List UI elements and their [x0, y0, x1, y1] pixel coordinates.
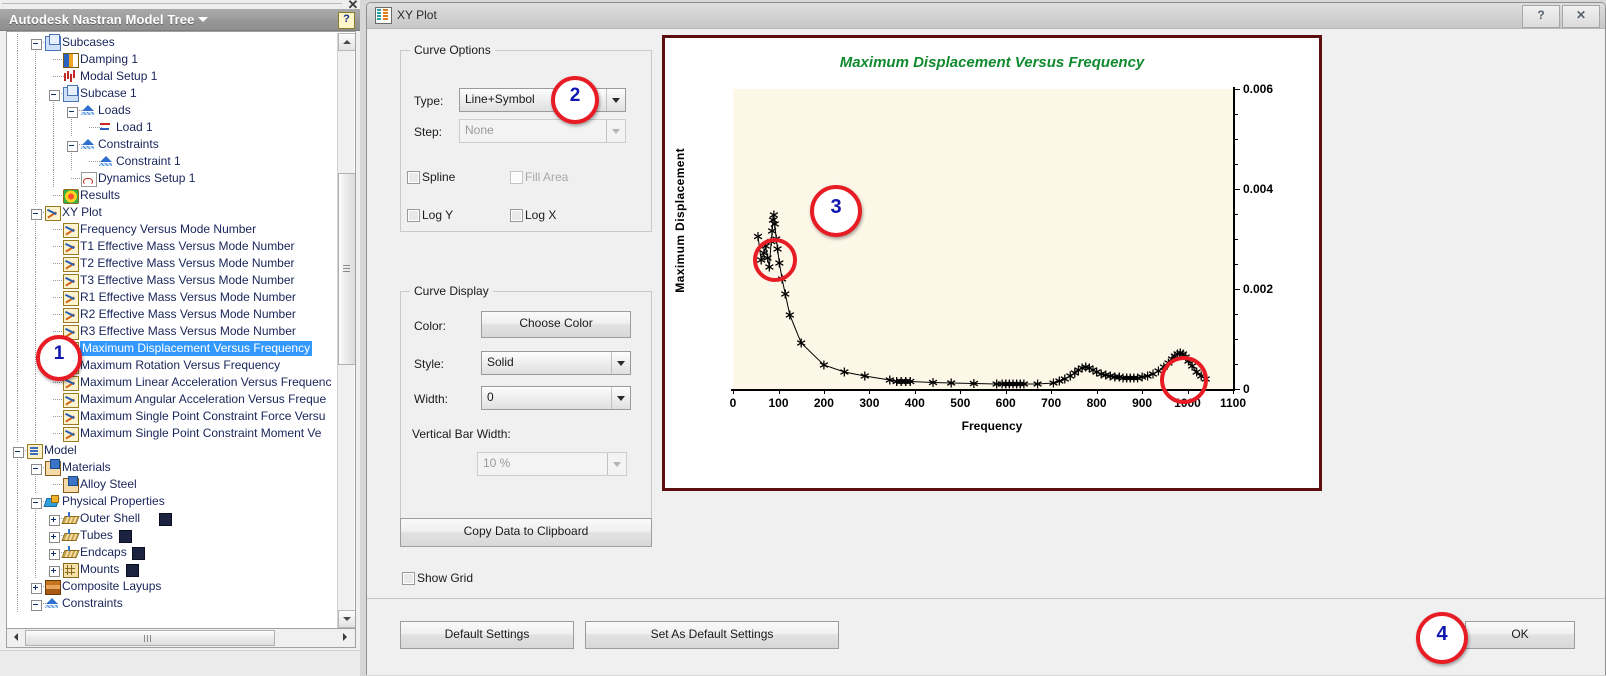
tree-item-label: R2 Effective Mass Versus Mode Number [80, 307, 296, 322]
tree-item-label: Maximum Rotation Versus Frequency [80, 358, 280, 373]
tree-item[interactable]: T2 Effective Mass Versus Mode Number [7, 255, 337, 272]
tree-guide [17, 187, 18, 204]
tree-item-label: Constraints [98, 137, 159, 152]
tree-item[interactable]: Damping 1 [7, 51, 337, 68]
y-tick-label: 0 [1243, 382, 1250, 396]
tree-item[interactable]: Model [7, 442, 337, 459]
annotation-badge-4: 4 [1416, 612, 1468, 664]
width-value: 0 [487, 390, 494, 404]
tree-guide [17, 578, 18, 595]
tree-item[interactable]: Frequency Versus Mode Number [7, 221, 337, 238]
y-minor-tick [1235, 239, 1238, 240]
style-value: Solid [487, 355, 514, 369]
ok-button[interactable]: OK [1465, 621, 1575, 649]
tree-item[interactable]: Mounts [7, 561, 337, 578]
physical-properties-icon [45, 495, 59, 508]
tree-guide [17, 476, 18, 493]
model-tree-caption-bar: Autodesk Nastran Model Tree ? [0, 9, 360, 31]
tree-guide [17, 323, 18, 340]
tree-item-label: Mounts [80, 562, 119, 577]
chevron-down-icon [607, 453, 626, 475]
tree-expander-minus-icon[interactable] [49, 90, 60, 101]
shell-icon [63, 529, 77, 542]
xy-icon [45, 206, 61, 221]
tree-item[interactable]: Outer Shell [7, 510, 337, 527]
xy-icon [63, 240, 79, 255]
tree-item[interactable]: Load 1 [7, 119, 337, 136]
x-tick-label: 700 [1041, 396, 1061, 410]
x-tick-label: 0 [730, 396, 737, 410]
tree-guide [17, 34, 18, 51]
chart-panel: Maximum Displacement Versus Frequency Ma… [662, 35, 1322, 491]
x-tick [733, 389, 734, 394]
chevron-down-icon[interactable] [611, 387, 630, 409]
tree-item[interactable]: Loads [7, 102, 337, 119]
pages-icon [45, 36, 61, 51]
tree-item-label: Constraint 1 [116, 154, 181, 169]
tree-guide [35, 272, 36, 289]
tree-guide [35, 425, 36, 442]
tree-item-label: Maximum Angular Acceleration Versus Freq… [80, 392, 326, 407]
tree-expander-minus-icon[interactable] [67, 107, 78, 118]
xy-icon [63, 274, 79, 289]
tree-guide [35, 153, 36, 170]
tree-guide [17, 170, 18, 187]
tree-item-label: Materials [62, 460, 111, 475]
xy-icon [63, 308, 79, 323]
step-label: Step: [414, 125, 442, 139]
tree-guide [35, 85, 36, 102]
highlight-ring-low-frequency-peak [753, 238, 797, 282]
tree-item-label: Model [44, 443, 77, 458]
tree-item-label: Damping 1 [80, 52, 138, 67]
x-tick [824, 389, 825, 394]
tree-guide [17, 136, 18, 153]
type-value: Line+Symbol [465, 92, 535, 106]
tree-guide [71, 153, 72, 170]
panel-footer [0, 650, 360, 676]
tree-guide [17, 255, 18, 272]
tree-item[interactable]: T1 Effective Mass Versus Mode Number [7, 238, 337, 255]
scroll-up-icon[interactable] [338, 33, 356, 51]
y-minor-tick [1235, 289, 1238, 290]
tree-guide [17, 238, 18, 255]
tree-guide [35, 187, 36, 204]
y-minor-tick [1235, 114, 1238, 115]
style-label: Style: [414, 357, 444, 371]
tree-item-label: T1 Effective Mass Versus Mode Number [80, 239, 295, 254]
vertical-scroll-thumb[interactable] [338, 173, 356, 365]
tree-item-label: T2 Effective Mass Versus Mode Number [80, 256, 295, 271]
y-minor-tick [1235, 89, 1238, 90]
dialog-title-bar: XY Plot ? ✕ [367, 3, 1605, 29]
width-combobox[interactable]: 0 [481, 386, 631, 410]
y-minor-tick [1235, 339, 1238, 340]
tree-guide [17, 544, 18, 561]
tree-item-label: Alloy Steel [80, 477, 137, 492]
tree-expander-minus-icon[interactable] [31, 209, 42, 220]
tree-item-label: T3 Effective Mass Versus Mode Number [80, 273, 295, 288]
tree-item[interactable]: Subcase 1 [7, 85, 337, 102]
x-tick-label: 100 [768, 396, 788, 410]
composite-icon [45, 580, 61, 595]
tree-guide [35, 238, 36, 255]
tree-guide [35, 391, 36, 408]
xy-icon [63, 223, 79, 238]
tree-item[interactable]: Subcases [7, 34, 337, 51]
curve-options-title: Curve Options [410, 43, 495, 57]
tree-expander-minus-icon[interactable] [13, 447, 24, 458]
model-icon [27, 444, 43, 459]
checkbox-box [510, 171, 523, 184]
y-minor-tick [1235, 189, 1238, 190]
help-icon[interactable]: ? [338, 12, 355, 29]
tree-item[interactable]: Physical Properties [7, 493, 337, 510]
tree-item-label: Maximum Displacement Versus Frequency [80, 341, 312, 356]
y-minor-tick [1235, 164, 1238, 165]
annotation-badge-3: 3 [810, 185, 862, 237]
tree-guide [35, 136, 36, 153]
dialog-footer: Default Settings Set As Default Settings… [367, 598, 1605, 675]
help-glyph: ? [1523, 6, 1559, 25]
spline-label: Spline [422, 170, 455, 184]
color-label: Color: [414, 319, 446, 333]
tree-item[interactable]: Tubes [7, 527, 337, 544]
type-label: Type: [414, 94, 443, 108]
tree-guide [17, 595, 18, 612]
color-swatch [119, 530, 132, 543]
x-tick-label: 900 [1132, 396, 1152, 410]
xy-icon [63, 393, 79, 408]
tree-item[interactable]: Endcaps [7, 544, 337, 561]
tree-expander-plus-icon[interactable] [49, 549, 60, 560]
tree-item[interactable]: Composite Layups [7, 578, 337, 595]
x-tick-label: 1100 [1220, 396, 1246, 410]
xy-plot-icon [375, 7, 392, 24]
tree-guide [71, 119, 72, 136]
set-as-default-settings-button[interactable]: Set As Default Settings [585, 621, 839, 649]
x-tick-label: 300 [859, 396, 879, 410]
tree-item-label: R3 Effective Mass Versus Mode Number [80, 324, 296, 339]
tree-guide [35, 544, 36, 561]
tree-item-label: Load 1 [116, 120, 153, 135]
log-y-label: Log Y [422, 208, 453, 222]
dialog-close-button[interactable]: ✕ [1562, 5, 1600, 28]
page-title: Autodesk Nastran Model Tree [9, 12, 194, 27]
tree-expander-minus-icon[interactable] [31, 600, 42, 611]
x-tick [1051, 389, 1052, 394]
xy-icon [63, 291, 79, 306]
tree-guide [35, 51, 36, 68]
constraint-icon [45, 597, 59, 610]
annotation-badge-2: 2 [551, 76, 599, 124]
x-tick [869, 389, 870, 394]
chevron-down-icon [606, 120, 625, 142]
tree-guide [17, 289, 18, 306]
y-minor-tick [1235, 364, 1238, 365]
y-minor-tick [1235, 139, 1238, 140]
x-tick [1097, 389, 1098, 394]
x-tick [1142, 389, 1143, 394]
tree-guide [35, 170, 36, 187]
tree-guide [17, 510, 18, 527]
tree-item-label: Modal Setup 1 [80, 69, 157, 84]
shell-icon [63, 512, 77, 525]
step-combobox[interactable]: None [459, 119, 626, 143]
pages-icon [63, 87, 79, 102]
bars-icon [63, 70, 77, 83]
copy-data-to-clipboard-button[interactable]: Copy Data to Clipboard [400, 518, 652, 547]
tree-guide [35, 255, 36, 272]
tree-item-label: Dynamics Setup 1 [98, 171, 195, 186]
y-minor-tick [1235, 214, 1238, 215]
constraint-icon [99, 155, 113, 168]
tree-item[interactable]: Constraints [7, 136, 337, 153]
x-tick-label: 500 [950, 396, 970, 410]
tree-item-label: Subcases [62, 35, 115, 50]
annotation-badge-1: 1 [36, 335, 82, 381]
cube-icon [63, 563, 79, 578]
color-swatch [159, 513, 172, 526]
dialog-title: XY Plot [397, 8, 437, 22]
chevron-down-icon[interactable] [198, 17, 208, 22]
dialog-help-button[interactable]: ? [1522, 5, 1560, 28]
tree-guide [35, 476, 36, 493]
type-combobox[interactable]: Line+Symbol [459, 88, 626, 112]
curve-display-title: Curve Display [410, 284, 493, 298]
tree-guide [17, 459, 18, 476]
x-tick [779, 389, 780, 394]
tree-guide [17, 391, 18, 408]
tree-vertical-scrollbar[interactable] [337, 33, 354, 628]
tree-item[interactable]: Results [7, 187, 337, 204]
vertical-bar-width-value: 10 % [483, 456, 510, 470]
loads-icon [81, 104, 95, 117]
step-value: None [465, 123, 494, 137]
x-tick-label: 200 [814, 396, 834, 410]
scroll-right-icon[interactable] [338, 630, 353, 644]
tree-expander-minus-icon[interactable] [31, 464, 42, 475]
tree-guide [53, 119, 54, 136]
tree-guide [17, 272, 18, 289]
tree-item[interactable]: R2 Effective Mass Versus Mode Number [7, 306, 337, 323]
y-tick-label: 0.002 [1243, 282, 1273, 296]
tree-guide [53, 136, 54, 153]
tree-guide [17, 306, 18, 323]
tree-expander-plus-icon[interactable] [49, 515, 60, 526]
xy-icon [63, 257, 79, 272]
tree-item-label: Tubes [80, 528, 113, 543]
style-combobox[interactable]: Solid [481, 351, 631, 375]
tree-expander-plus-icon[interactable] [49, 532, 60, 543]
xy-plot-dialog: XY Plot ? ✕ Curve Options Type: Line+Sym… [366, 2, 1606, 675]
horizontal-scroll-thumb[interactable] [25, 630, 275, 646]
tree-horizontal-scrollbar[interactable] [6, 628, 356, 648]
xy-icon [63, 410, 79, 425]
tree-guide [53, 102, 54, 119]
tree-guide [35, 306, 36, 323]
color-swatch [132, 547, 145, 560]
tree-expander-minus-icon[interactable] [31, 39, 42, 50]
chevron-down-icon[interactable] [611, 352, 630, 374]
tree-item[interactable]: T3 Effective Mass Versus Mode Number [7, 272, 337, 289]
model-tree-list[interactable]: SubcasesDamping 1Modal Setup 1Subcase 1L… [7, 34, 337, 630]
x-tick [915, 389, 916, 394]
tree-guide [35, 68, 36, 85]
results-icon [63, 189, 79, 204]
checkbox-box [510, 209, 523, 222]
color-swatch [126, 564, 139, 577]
log-x-label: Log X [525, 208, 556, 222]
tree-item-label: XY Plot [62, 205, 102, 220]
fill-area-label: Fill Area [525, 170, 568, 184]
tree-item-label: Subcase 1 [80, 86, 137, 101]
scroll-down-icon[interactable] [338, 610, 356, 628]
tree-guide [17, 204, 18, 221]
choose-color-button[interactable]: Choose Color [481, 311, 631, 338]
tree-item-label: R1 Effective Mass Versus Mode Number [80, 290, 296, 305]
tree-guide [17, 527, 18, 544]
tree-guide [35, 510, 36, 527]
show-grid-label: Show Grid [417, 571, 473, 585]
tree-guide [17, 102, 18, 119]
tree-guide [35, 289, 36, 306]
tree-expander-minus-icon[interactable] [67, 141, 78, 152]
tree-expander-plus-icon[interactable] [31, 583, 42, 594]
tree-item[interactable]: Modal Setup 1 [7, 68, 337, 85]
tree-guide [17, 374, 18, 391]
tree-item-label: Maximum Single Point Constraint Moment V… [80, 426, 321, 441]
tree-expander-plus-icon[interactable] [49, 566, 60, 577]
vertical-bar-width-combobox[interactable]: 10 % [477, 452, 627, 476]
checkbox-box [407, 209, 420, 222]
chart-x-axis [731, 389, 1235, 391]
tree-item[interactable]: Alloy Steel [7, 476, 337, 493]
x-tick [960, 389, 961, 394]
tree-item[interactable]: XY Plot [7, 204, 337, 221]
tree-item-label: Outer Shell [80, 511, 140, 526]
tree-item[interactable]: Materials [7, 459, 337, 476]
default-settings-button[interactable]: Default Settings [400, 621, 574, 649]
x-tick [1006, 389, 1007, 394]
tree-item-label: Maximum Single Point Constraint Force Ve… [80, 409, 325, 424]
model-tree-body: SubcasesDamping 1Modal Setup 1Subcase 1L… [6, 31, 356, 630]
tree-item[interactable]: Constraint 1 [7, 153, 337, 170]
tree-guide [17, 408, 18, 425]
tree-guide [35, 323, 36, 340]
tree-item-label: Maximum Linear Acceleration Versus Frequ… [80, 375, 331, 390]
tree-guide [17, 51, 18, 68]
tree-item-label: Endcaps [80, 545, 127, 560]
tree-guide [35, 119, 36, 136]
tree-guide [35, 561, 36, 578]
tree-item[interactable]: Dynamics Setup 1 [7, 170, 337, 187]
tree-expander-minus-icon[interactable] [31, 498, 42, 509]
tree-item[interactable]: Constraints [7, 595, 337, 612]
y-minor-tick [1235, 389, 1238, 390]
y-minor-tick [1235, 314, 1238, 315]
tree-item[interactable]: Maximum Single Point Constraint Force Ve… [7, 408, 337, 425]
tree-guide [35, 527, 36, 544]
model-tree-panel: ✕ Autodesk Nastran Model Tree ? Subcases… [0, 0, 360, 675]
x-tick-label: 600 [996, 396, 1016, 410]
y-tick-label: 0.004 [1243, 182, 1273, 196]
tree-item[interactable]: Maximum Single Point Constraint Moment V… [7, 425, 337, 442]
damping-icon [63, 53, 79, 68]
tree-guide [17, 357, 18, 374]
tree-guide [35, 374, 36, 391]
constraint-icon [81, 138, 95, 151]
tree-item[interactable]: Maximum Angular Acceleration Versus Freq… [7, 391, 337, 408]
close-icon: ✕ [1563, 6, 1599, 25]
tree-item-label: Loads [98, 103, 131, 118]
x-tick-label: 400 [905, 396, 925, 410]
scroll-left-icon[interactable] [9, 630, 24, 644]
tree-item-label: Physical Properties [62, 494, 165, 509]
x-tick [1233, 389, 1234, 394]
tree-item-label: Constraints [62, 596, 123, 611]
tree-item[interactable]: R1 Effective Mass Versus Mode Number [7, 289, 337, 306]
tree-guide [17, 493, 18, 510]
tree-guide [35, 102, 36, 119]
tree-item-label: Frequency Versus Mode Number [80, 222, 256, 237]
tree-guide [17, 85, 18, 102]
tree-guide [35, 408, 36, 425]
materials-icon [45, 461, 61, 476]
highlight-ring-high-frequency-peak [1160, 356, 1208, 404]
tree-guide [35, 221, 36, 238]
dynamics-icon [81, 172, 97, 187]
tree-item-label: Results [80, 188, 120, 203]
x-tick-label: 800 [1087, 396, 1107, 410]
checkbox-box [407, 171, 420, 184]
tree-guide [17, 561, 18, 578]
load-icon [99, 121, 113, 134]
tree-item-label: Composite Layups [62, 579, 161, 594]
materials-icon [63, 478, 79, 493]
tree-guide [17, 221, 18, 238]
tree-guide [17, 340, 18, 357]
tree-guide [17, 119, 18, 136]
checkbox-box [402, 572, 415, 585]
shell-icon [63, 546, 77, 559]
width-label: Width: [414, 392, 448, 406]
chevron-down-icon[interactable] [606, 89, 625, 111]
tree-guide [17, 153, 18, 170]
help-glyph: ? [339, 13, 354, 26]
tree-guide [17, 68, 18, 85]
xy-icon [63, 427, 79, 442]
y-tick-label: 0.006 [1243, 82, 1273, 96]
tree-guide [17, 425, 18, 442]
tree-guide [53, 153, 54, 170]
tree-guide [53, 170, 54, 187]
dialog-body: Curve Options Type: Line+Symbol Step: No… [367, 28, 1605, 598]
app-root: ✕ Autodesk Nastran Model Tree ? Subcases… [0, 0, 1606, 675]
y-minor-tick [1235, 264, 1238, 265]
vertical-bar-width-label: Vertical Bar Width: [412, 427, 511, 441]
